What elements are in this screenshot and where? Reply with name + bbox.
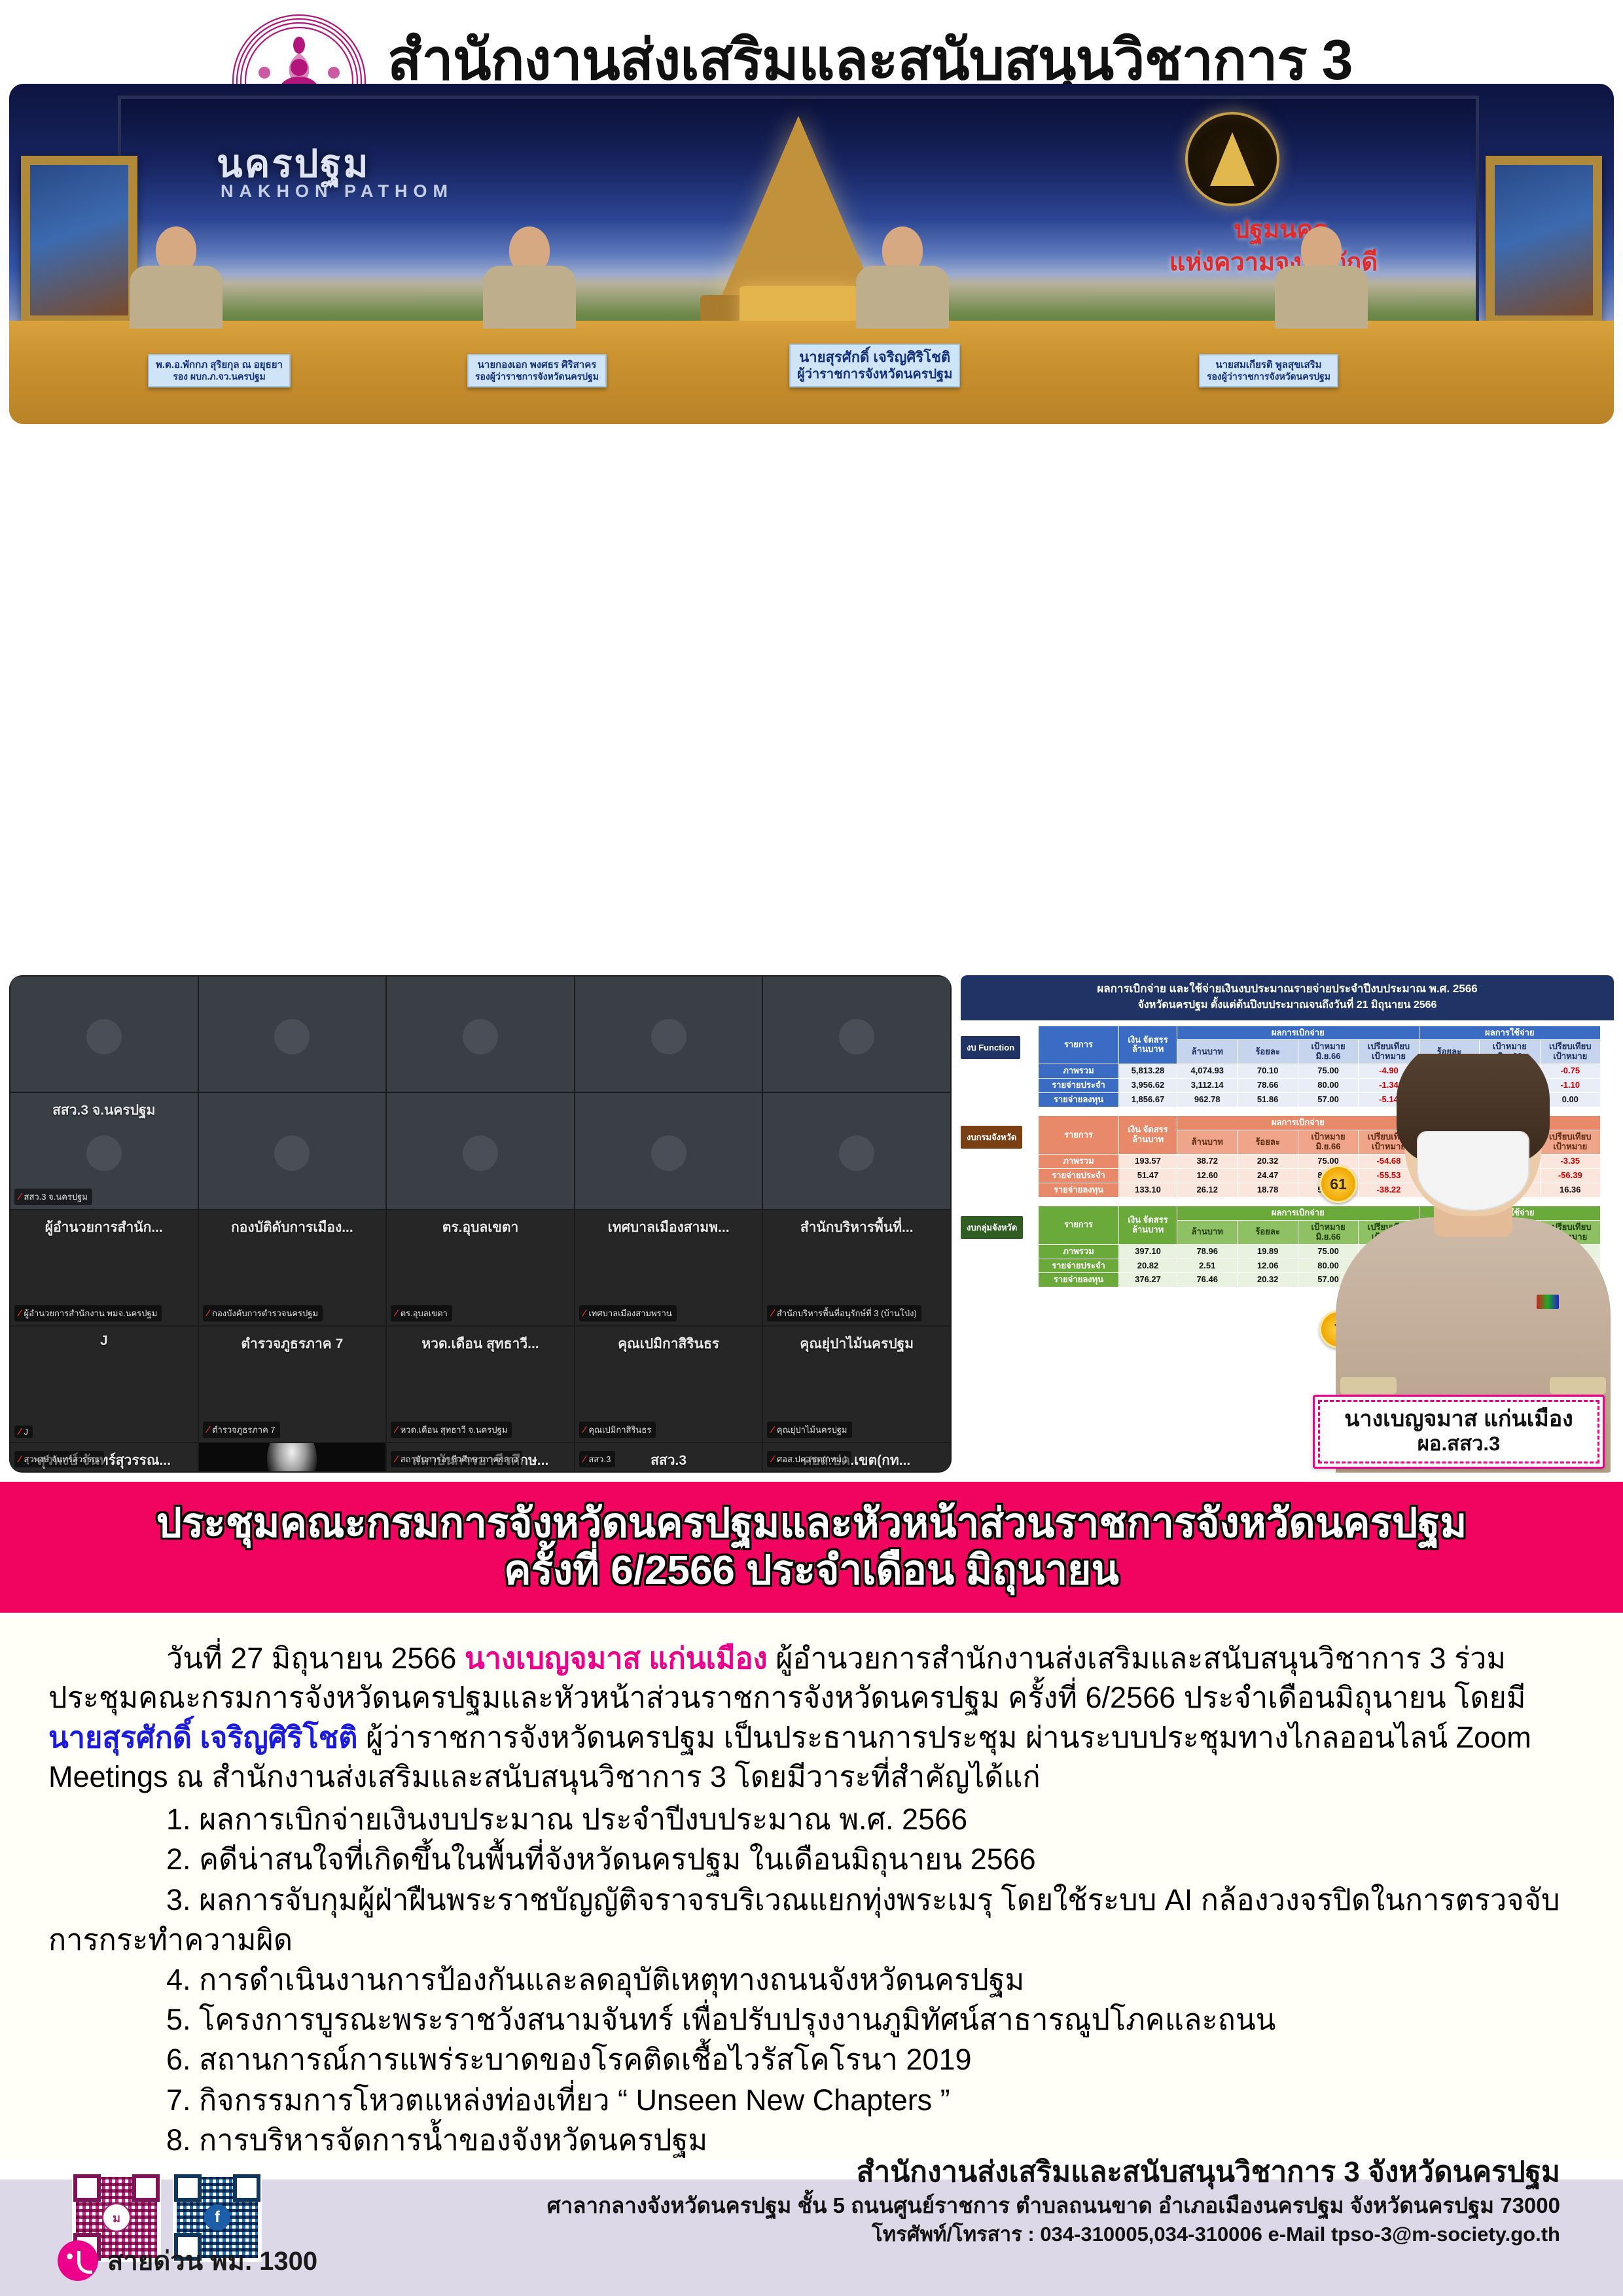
- table-cell: 78.96: [1177, 1244, 1238, 1259]
- page-footer: ม f สายด่วน พม. 1300 สำนักงานส่งเสริมและ…: [0, 2179, 1623, 2296]
- microphone-muted-icon: ⁄: [19, 1454, 21, 1464]
- table-subheader-cell: ล้านบาท: [1177, 1040, 1238, 1064]
- table-cell: 70.10: [1238, 1064, 1298, 1079]
- zoom-tile-nameplate: ⁄กองบังคับการตำรวจนครปฐม: [203, 1305, 323, 1321]
- zoom-tile-title: ตำรวจภูธรภาค 7: [241, 1333, 343, 1355]
- zoom-tile-nameplate: ⁄เทศบาลเมืองสามพราน: [579, 1305, 677, 1321]
- rank-epaulette: [1550, 1377, 1606, 1394]
- table-cell: 397.10: [1119, 1244, 1177, 1259]
- microphone-muted-icon: ⁄: [395, 1425, 397, 1435]
- seated-officer: [127, 226, 225, 325]
- row-label: ภาพรวม: [1039, 1064, 1119, 1079]
- zoom-tile[interactable]: [199, 1443, 386, 1471]
- table-subheader-cell: ล้านบาท: [1177, 1220, 1238, 1244]
- participant-avatar: [651, 1019, 687, 1054]
- zoom-tile-nameplate: ⁄คุณเปมิกาสิรินธร: [579, 1422, 656, 1438]
- table-tag-cluster: งบกลุ่มจังหวัด: [961, 1216, 1023, 1239]
- zoom-tile-nameplate: ⁄สสว.3: [579, 1451, 616, 1467]
- seated-officer: [480, 226, 579, 325]
- microphone-muted-icon: ⁄: [772, 1425, 774, 1435]
- rank-epaulette: [1340, 1377, 1397, 1394]
- microphone-muted-icon: ⁄: [19, 1427, 21, 1437]
- seated-officer: [853, 226, 952, 325]
- zoom-tile[interactable]: ตร.อุบลเขตา⁄ตร.อุบลเขตา: [387, 1210, 574, 1325]
- zoom-tile-nameplate: ⁄สำนักบริหารพื้นที่อนุรักษ์ที่ 3 (บ้านโป…: [767, 1305, 921, 1321]
- zoom-tile[interactable]: [763, 1093, 950, 1208]
- participant-name: เทศบาลเมืองสามพราน: [588, 1306, 672, 1320]
- table-cell: 962.78: [1177, 1093, 1238, 1107]
- microphone-muted-icon: ⁄: [19, 1192, 21, 1202]
- zoom-tile[interactable]: สสว.3 จ.นครปฐม⁄สสว.3 จ.นครปฐม: [10, 1093, 198, 1208]
- row-label: รายจ่ายลงทุน: [1039, 1273, 1119, 1287]
- table-cell: 78.66: [1238, 1079, 1298, 1093]
- para-pre: วันที่ 27 มิถุนายน 2566: [166, 1641, 465, 1675]
- zoom-tile[interactable]: [387, 1093, 574, 1208]
- table-subheader-cell: ร้อยละ: [1238, 1130, 1298, 1155]
- qr-seal-center: ม: [102, 2203, 131, 2232]
- zoom-tile[interactable]: คุณยุ่ปาไม้นครปฐม⁄คุณยุ่ปาไม้นครปฐม: [763, 1327, 950, 1442]
- participant-name: สุวพงษ์ จันทร์สุวรรณ: [24, 1452, 100, 1466]
- zoom-tile[interactable]: หวด.เดือน สุทธาวี...⁄หวด.เดือน สุทธาวี จ…: [387, 1327, 574, 1442]
- microphone-muted-icon: ⁄: [772, 1308, 774, 1318]
- budget-slide-panel: ผลการเบิกจ่าย และใช้จ่ายเงินงบประมาณรายจ…: [961, 975, 1614, 1473]
- facebook-glyph: f: [204, 2204, 230, 2231]
- royal-portrait-icon: [21, 156, 137, 325]
- meeting-photo: นครปฐม NAKHON PATHOM ปฐมนคร แห่งความจงรั…: [9, 84, 1614, 424]
- agenda-item: 4. การดำเนินงานการป้องกันและลดอุบัติเหตุ…: [48, 1960, 1575, 2000]
- table-subheader-cell: ร้อยละ: [1238, 1220, 1298, 1244]
- zoom-tile[interactable]: [199, 1093, 386, 1208]
- zoom-tile[interactable]: [575, 977, 762, 1092]
- table-cell: 12.06: [1238, 1259, 1298, 1273]
- row-label: รายจ่ายประจำ: [1039, 1079, 1119, 1093]
- table-cell: 12.60: [1177, 1168, 1238, 1183]
- agenda-item: 2. คดีน่าสนใจที่เกิดขึ้นในพื้นที่จังหวัด…: [48, 1839, 1575, 1879]
- microphone-muted-icon: ⁄: [207, 1425, 209, 1435]
- zoom-tile-nameplate: ⁄คุณยุ่ปาไม้นครปฐม: [767, 1422, 851, 1438]
- headline-banner: ประชุมคณะกรมการจังหวัดนครปฐมและหัวหน้าส่…: [0, 1482, 1623, 1613]
- table-cell: 20.82: [1119, 1259, 1177, 1273]
- page-title: สำนักงานส่งเสริมและสนับสนุนวิชาการ 3: [387, 32, 1352, 90]
- microphone-muted-icon: ⁄: [584, 1454, 586, 1464]
- zoom-tile[interactable]: ตำรวจภูธรภาค 7⁄ตำรวจภูธรภาค 7: [199, 1327, 386, 1442]
- nameplate: นายกองเอก พงศธร ศิริสาคร รองผู้ว่าราชการ…: [467, 354, 607, 387]
- microphone-muted-icon: ⁄: [584, 1425, 586, 1435]
- director-name: นางเบญจมาส แก่นเมือง: [1321, 1406, 1596, 1432]
- participant-name: ศอส.ปค.เขต(กทม.): [777, 1452, 847, 1466]
- participant-avatar: [839, 1136, 874, 1171]
- row-label: รายจ่ายประจำ: [1039, 1259, 1119, 1273]
- hotline-block: สายด่วน พม. 1300: [58, 2240, 317, 2282]
- table-tag-province: งบกรมจังหวัด: [961, 1126, 1022, 1149]
- zoom-tile[interactable]: สถาบันการอาชีวศึกษ...⁄สถาบันการอาชีวศึกษ…: [387, 1443, 574, 1471]
- microphone-muted-icon: ⁄: [772, 1454, 774, 1464]
- agenda-item: 6. สถานการณ์การแพร่ระบาดของโรคติดเชื้อไว…: [48, 2039, 1575, 2079]
- nameplate: นายสมเกียรติ พูลสุขเสริม รองผู้ว่าราชการ…: [1199, 354, 1338, 387]
- table-cell: 2.51: [1177, 1259, 1238, 1273]
- participant-name: ตร.อุบลเขตา: [401, 1306, 448, 1320]
- slide-title-line2: จังหวัดนครปฐม ตั้งแต่ต้นปีงบประมาณจนถึงว…: [966, 998, 1609, 1013]
- participant-name: ตำรวจภูธรภาค 7: [212, 1423, 276, 1437]
- royal-portrait-icon: [1486, 156, 1602, 325]
- table-subheader-cell: ล้านบาท: [1177, 1130, 1238, 1155]
- nakhon-pathom-provincial-seal-icon: [1185, 112, 1279, 206]
- microphone-muted-icon: ⁄: [207, 1308, 209, 1318]
- agenda-item: 3. ผลการจับกุมผู้ฝ่าฝืนพระราชบัญญัติจราจ…: [48, 1880, 1575, 1960]
- backdrop-city-en: NAKHON PATHOM: [221, 181, 454, 202]
- zoom-tile-nameplate: ⁄ผู้อำนวยการสำนักงาน พมจ.นครปฐม: [14, 1305, 162, 1321]
- col-group-disburse: ผลการเบิกจ่าย: [1177, 1026, 1419, 1040]
- zoom-tile-title: สำนักบริหารพื้นที่...: [800, 1217, 914, 1238]
- participant-name: สสว.3: [588, 1452, 611, 1466]
- participant-avatar: [86, 1019, 122, 1054]
- nameplate-governor: นายสุรศักดิ์ เจริญศิริโชติ ผู้ว่าราชการจ…: [789, 344, 960, 387]
- zoom-tile-nameplate: ⁄สุวพงษ์ จันทร์สุวรรณ: [14, 1451, 104, 1467]
- table-cell: 38.72: [1177, 1154, 1238, 1168]
- footer-office-name: สำนักงานส่งเสริมและสนับสนุนวิชาการ 3 จัง…: [547, 2153, 1560, 2191]
- zoom-tile[interactable]: สุวพงษ์ จันทร์สุวรรณ...⁄สุวพงษ์ จันทร์สุ…: [10, 1443, 198, 1471]
- article-body: วันที่ 27 มิถุนายน 2566 นางเบญจมาส แก่นเ…: [0, 1617, 1623, 2160]
- zoom-tile-title: ผู้อำนวยการสำนัก...: [45, 1217, 163, 1238]
- zoom-tile-title: คุณยุ่ปาไม้นครปฐม: [800, 1333, 914, 1355]
- microphone-muted-icon: ⁄: [395, 1454, 397, 1464]
- row-label: รายจ่ายประจำ: [1039, 1168, 1119, 1183]
- zoom-tile[interactable]: คุณเปมิกาสิรินธร⁄คุณเปมิกาสิรินธร: [575, 1327, 762, 1442]
- row-label: ภาพรวม: [1039, 1154, 1119, 1168]
- table-cell: 1,856.67: [1119, 1093, 1177, 1107]
- zoom-tile-title: ตร.อุบลเขตา: [442, 1217, 519, 1238]
- agenda-list: 1. ผลการเบิกจ่ายเงินงบประมาณ ประจำปีงบปร…: [48, 1799, 1575, 2160]
- hotline-text: สายด่วน พม. 1300: [107, 2240, 317, 2282]
- table-cell: 5,813.28: [1119, 1064, 1177, 1079]
- zoom-tile-title: เทศบาลเมืองสามพ...: [608, 1217, 730, 1238]
- director-position: ผอ.สสว.3: [1321, 1432, 1596, 1456]
- zoom-tile[interactable]: ศอส.ปค.เขต(กท...⁄ศอส.ปค.เขต(กทม.): [763, 1443, 950, 1471]
- row-label: รายจ่ายลงทุน: [1039, 1183, 1119, 1197]
- participant-avatar: [839, 1019, 874, 1054]
- zoom-tile[interactable]: [199, 977, 386, 1092]
- col-item: รายการ: [1039, 1026, 1119, 1064]
- zoom-tile-nameplate: ⁄J: [14, 1426, 33, 1438]
- zoom-tile-title: สสว.3 จ.นครปฐม: [52, 1100, 155, 1121]
- table-cell: 3,112.14: [1177, 1079, 1238, 1093]
- participant-name: สสว.3 จ.นครปฐม: [24, 1190, 88, 1204]
- agenda-item: 7. กิจกรรมการโหวตแหล่งท่องเที่ยว “ Unsee…: [48, 2080, 1575, 2120]
- participant-avatar: [274, 1136, 310, 1171]
- table-cell: 20.32: [1238, 1154, 1298, 1168]
- participant-name: J: [24, 1427, 29, 1437]
- zoom-tile[interactable]: [763, 977, 950, 1092]
- article-paragraph: วันที่ 27 มิถุนายน 2566 นางเบญจมาส แก่นเ…: [48, 1639, 1575, 1797]
- zoom-participant-grid: สสว.3 จ.นครปฐม⁄สสว.3 จ.นครปฐมผู้อำนวยการ…: [9, 975, 952, 1473]
- zoom-tile-nameplate: ⁄ตร.อุบลเขตา: [391, 1305, 452, 1321]
- zoom-tile[interactable]: เทศบาลเมืองสามพ...⁄เทศบาลเมืองสามพราน: [575, 1210, 762, 1325]
- row-label: ภาพรวม: [1039, 1244, 1119, 1259]
- hotline-smile-icon: [58, 2240, 98, 2281]
- zoom-tile[interactable]: J⁄J: [10, 1327, 198, 1442]
- participant-name: คุณยุ่ปาไม้นครปฐม: [777, 1423, 847, 1437]
- zoom-tile-nameplate: ⁄หวด.เดือน สุทธาวี จ.นครปฐม: [391, 1422, 512, 1438]
- table-cell: 20.32: [1238, 1273, 1298, 1287]
- zoom-tile[interactable]: [387, 977, 574, 1092]
- ribbon-bar-icon: [1537, 1295, 1559, 1309]
- footer-address: ศาลากลางจังหวัดนครปฐม ชั้น 5 ถนนศูนย์ราช…: [547, 2192, 1560, 2220]
- zoom-tile[interactable]: [10, 977, 198, 1092]
- col-alloc: เงิน จัดสรร ล้านบาท: [1119, 1026, 1177, 1064]
- microphone-muted-icon: ⁄: [395, 1308, 397, 1318]
- participant-name: หวด.เดือน สุทธาวี จ.นครปฐม: [401, 1423, 508, 1437]
- table-cell: 26.12: [1177, 1183, 1238, 1197]
- table-tag-function: งบ Function: [961, 1036, 1020, 1059]
- highlight-director-name: นางเบญจมาส แก่นเมือง: [465, 1641, 768, 1675]
- col-item: รายการ: [1039, 1206, 1119, 1244]
- participant-name: กองบังคับการตำรวจนครปฐม: [212, 1306, 318, 1320]
- microphone-muted-icon: ⁄: [19, 1308, 21, 1318]
- seated-officer: [1272, 226, 1370, 325]
- zoom-tile-title: กองบัติดับการเมือง...: [231, 1217, 353, 1238]
- zoom-tile-nameplate: ⁄ศอส.ปค.เขต(กทม.): [767, 1451, 851, 1467]
- table-cell: 4,074.93: [1177, 1064, 1238, 1079]
- table-cell: 24.47: [1238, 1168, 1298, 1183]
- face-mask-icon: [1417, 1131, 1529, 1211]
- footer-contact-line: โทรศัพท์/โทรสาร : 034-310005,034-310006 …: [547, 2221, 1560, 2248]
- zoom-tile[interactable]: กองบัติดับการเมือง...⁄กองบังคับการตำรวจน…: [199, 1210, 386, 1325]
- table-cell: 3,956.62: [1119, 1079, 1177, 1093]
- participant-name: สำนักบริหารพื้นที่อนุรักษ์ที่ 3 (บ้านโป่…: [777, 1306, 917, 1320]
- highlight-governor-name: นายสุรศักดิ์ เจริญศิริโชติ: [48, 1721, 358, 1754]
- zoom-tile-title: หวด.เดือน สุทธาวี...: [421, 1333, 539, 1355]
- participant-avatar: [463, 1019, 498, 1054]
- table-cell: 76.46: [1177, 1273, 1238, 1287]
- col-group-use: ผลการใช้จ่าย: [1419, 1026, 1600, 1040]
- table-cell: 51.86: [1238, 1093, 1298, 1107]
- headline-line2: ครั้งที่ 6/2566 ประจำเดือน มิถุนายน: [504, 1547, 1119, 1594]
- row-label: รายจ่ายลงทุน: [1039, 1093, 1119, 1107]
- table-cell: 51.47: [1119, 1168, 1177, 1183]
- col-alloc: เงิน จัดสรร ล้านบาท: [1119, 1116, 1177, 1155]
- zoom-tile[interactable]: สำนักบริหารพื้นที่...⁄สำนักบริหารพื้นที่…: [763, 1210, 950, 1325]
- microphone-muted-icon: ⁄: [584, 1308, 586, 1318]
- headline-line1: ประชุมคณะกรมการจังหวัดนครปฐมและหัวหน้าส่…: [156, 1500, 1467, 1547]
- participant-avatar: [651, 1136, 687, 1171]
- agenda-item: 5. โครงการบูรณะพระราชวังสนามจันทร์ เพื่อ…: [48, 2000, 1575, 2039]
- zoom-tile-title: คุณเปมิกาสิรินธร: [618, 1333, 719, 1355]
- participant-avatar: [274, 1019, 310, 1054]
- participant-avatar: [463, 1136, 498, 1171]
- table-header-row: รายการเงิน จัดสรร ล้านบาทผลการเบิกจ่ายผล…: [1039, 1026, 1601, 1040]
- table-cell: 19.89: [1238, 1244, 1298, 1259]
- slide-title-line1: ผลการเบิกจ่าย และใช้จ่ายเงินงบประมาณรายจ…: [966, 982, 1609, 997]
- participant-name: คุณเปมิกาสิรินธร: [588, 1423, 651, 1437]
- agenda-item: 1. ผลการเบิกจ่ายเงินงบประมาณ ประจำปีงบปร…: [48, 1799, 1575, 1839]
- col-item: รายการ: [1039, 1116, 1119, 1155]
- zoom-tile-nameplate: ⁄สถาบันการอาชีวศึกษาภาคกลาง: [391, 1451, 522, 1467]
- participant-name: ผู้อำนวยการสำนักงาน พมจ.นครปฐม: [24, 1306, 158, 1320]
- table-cell: 376.27: [1119, 1273, 1177, 1287]
- col-alloc: เงิน จัดสรร ล้านบาท: [1119, 1206, 1177, 1244]
- zoom-tile[interactable]: สสว.3⁄สสว.3: [575, 1443, 762, 1471]
- participant-avatar: [86, 1136, 122, 1171]
- director-name-card: นางเบญจมาส แก่นเมือง ผอ.สสว.3: [1313, 1395, 1605, 1469]
- nameplate: พ.ต.อ.พักกภ สุริยกุล ณ อยุธยา รอง ผบก.ภ.…: [148, 354, 291, 387]
- footer-contact: สำนักงานส่งเสริมและสนับสนุนวิชาการ 3 จัง…: [547, 2153, 1560, 2248]
- zoom-tile[interactable]: ผู้อำนวยการสำนัก...⁄ผู้อำนวยการสำนักงาน …: [10, 1210, 198, 1325]
- table-subheader-cell: ร้อยละ: [1238, 1040, 1298, 1064]
- zoom-tile-nameplate: ⁄สสว.3 จ.นครปฐม: [14, 1189, 92, 1205]
- table-cell: 133.10: [1119, 1183, 1177, 1197]
- participant-name: สถาบันการอาชีวศึกษาภาคกลาง: [401, 1452, 518, 1466]
- zoom-tile-nameplate: ⁄ตำรวจภูธรภาค 7: [203, 1422, 280, 1438]
- table-cell: 193.57: [1119, 1154, 1177, 1168]
- zoom-tile-title: J: [100, 1333, 108, 1349]
- slide-header: ผลการเบิกจ่าย และใช้จ่ายเงินงบประมาณรายจ…: [961, 975, 1614, 1020]
- garuda-emblem-icon: [267, 1443, 317, 1471]
- zoom-tile[interactable]: [575, 1093, 762, 1208]
- zoom-tile-title: สสว.3: [651, 1450, 687, 1471]
- table-cell: 18.78: [1238, 1183, 1298, 1197]
